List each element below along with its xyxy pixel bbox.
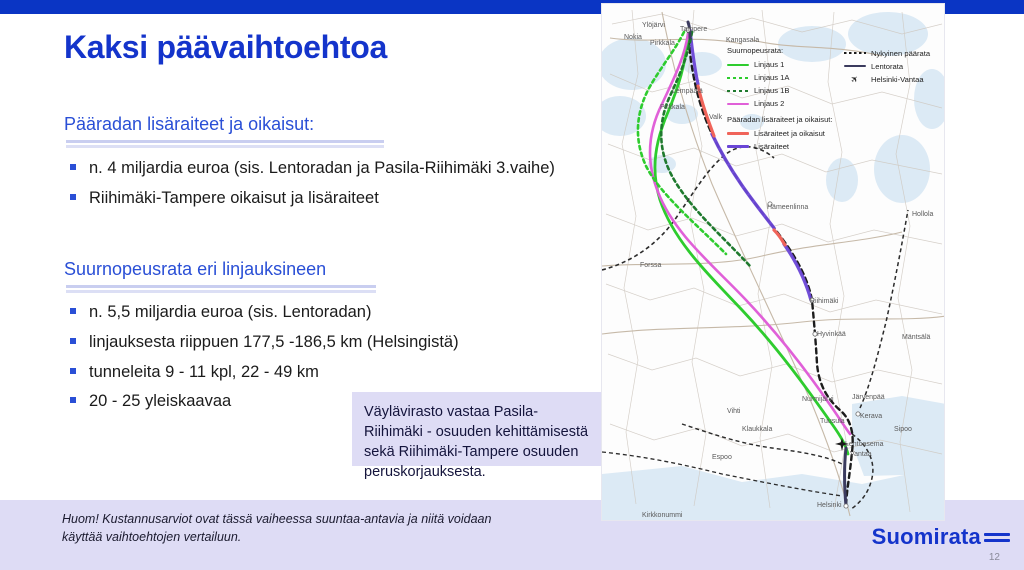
line-swatch-dashed (844, 49, 866, 58)
list-item: Riihimäki-Tampere oikaisut ja lisäraitee… (64, 188, 555, 210)
legend-item-label: Lisäraiteet ja oikaisut (754, 130, 825, 138)
list-item-text: linjauksesta riippuen 177,5 -186,5 km (H… (89, 333, 459, 351)
bullet-square-icon (70, 397, 76, 403)
map-place-label: Pirkkala (660, 104, 685, 111)
legend-item-label: Linjaus 2 (754, 100, 784, 108)
line-swatch-solid (727, 61, 749, 70)
footer-note: Huom! Kustannusarviot ovat tässä vaihees… (62, 510, 532, 546)
list-item: n. 5,5 miljardia euroa (sis. Lentoradan) (64, 302, 459, 324)
bullet-square-icon (70, 338, 76, 344)
legend-item[interactable]: Lisäraiteet ja oikaisut (727, 127, 837, 140)
map-place-label: Nokia (624, 34, 642, 41)
brand-logo: Suomirata (872, 524, 1010, 550)
map-place-label: Sipoo (894, 426, 912, 433)
map-place-label: Riihimäki (810, 298, 838, 305)
heading-rule-lower (66, 145, 384, 148)
line-swatch-solid (727, 100, 749, 109)
list-item-text: Riihimäki-Tampere oikaisut ja lisäraitee… (89, 189, 379, 207)
legend-item[interactable]: Linjaus 1A (727, 72, 837, 85)
legend-item-label: Helsinki-Vantaa (871, 76, 924, 84)
map-place-label: Kerava (860, 413, 882, 420)
map-place-label: Espoo (712, 454, 732, 461)
list-item-text: tunneleita 9 - 11 kpl, 22 - 49 km (89, 363, 319, 381)
legend-item-label: Lentorata (871, 63, 903, 71)
map-place-label: Järvenpää (852, 394, 885, 401)
legend-item[interactable]: Linjaus 1 (727, 59, 837, 72)
callout-box: Väylävirasto vastaa Pasila-Riihimäki - o… (352, 392, 604, 466)
heading-rule-upper (66, 140, 384, 143)
legend-item-label: Linjaus 1B (754, 87, 789, 95)
map-place-label: Mäntsälä (902, 334, 930, 341)
list-item: n. 4 miljardia euroa (sis. Lentoradan ja… (64, 158, 555, 180)
list-item: tunneleita 9 - 11 kpl, 22 - 49 km (64, 362, 459, 384)
legend-column-left: Suurnopeusrata: Linjaus 1Linjaus 1ALinja… (727, 47, 837, 153)
map-place-label: Lentoasema (845, 441, 884, 448)
bullet-square-icon (70, 308, 76, 314)
slide-root: Kaksi päävaihtoehtoa Pääradan lisäraitee… (0, 0, 1024, 570)
map-place-label: Forssa (640, 262, 661, 269)
map-place-label: Helsinki (817, 502, 842, 509)
legend-item-label: Lisäraiteet (754, 143, 789, 151)
legend-group-existing: Nykyinen päärataLentorata✈Helsinki-Vanta… (844, 47, 944, 86)
legend-item-label: Linjaus 1 (754, 61, 784, 69)
page-number: 12 (989, 552, 1000, 563)
legend-item[interactable]: Nykyinen päärata (844, 47, 944, 60)
legend-item[interactable]: Linjaus 2 (727, 98, 837, 111)
section-heading-2-label: Suurnopeusrata eri linjauksineen (64, 259, 326, 279)
legend-column-right: Nykyinen päärataLentorata✈Helsinki-Vanta… (844, 47, 944, 86)
legend-group-mainline: Lisäraiteet ja oikaisutLisäraiteet (727, 127, 837, 153)
bullet-list-1: n. 4 miljardia euroa (sis. Lentoradan ja… (64, 158, 555, 218)
map-place-label: Hyvinkää (817, 331, 846, 338)
map-place-label: Pirkkala (650, 40, 675, 47)
list-item-text: n. 5,5 miljardia euroa (sis. Lentoradan) (89, 303, 371, 321)
map-place-label: Nurmijärvi (802, 396, 834, 403)
map-place-label: Kirkkonummi (642, 512, 682, 519)
brand-rail-icon (984, 530, 1010, 545)
bullet-square-icon (70, 194, 76, 200)
line-swatch-dotted (727, 74, 749, 83)
legend-group-speedrail: Linjaus 1Linjaus 1ALinjaus 1BLinjaus 2 (727, 59, 837, 111)
legend-title-mainline: Pääradan lisäraiteet ja oikaisut: (727, 116, 837, 124)
legend-item[interactable]: Lisäraiteet (727, 140, 837, 153)
line-swatch-solid (727, 129, 749, 138)
map-place-label: Ylöjärvi (642, 22, 665, 29)
map-place-label: Hämeenlinna (767, 204, 808, 211)
legend-item[interactable]: Linjaus 1B (727, 85, 837, 98)
map-place-label: Vihti (727, 408, 741, 415)
line-swatch-dotted (727, 87, 749, 96)
map-place-label: Klaukkala (742, 426, 772, 433)
list-item-text: 20 - 25 yleiskaavaa (89, 392, 231, 410)
map-place-label: Lempäälä (672, 88, 703, 95)
plane-icon: ✈ (844, 75, 866, 84)
line-swatch-solid (844, 62, 866, 71)
list-item-text: n. 4 miljardia euroa (sis. Lentoradan ja… (89, 159, 555, 177)
list-item: linjauksesta riippuen 177,5 -186,5 km (H… (64, 332, 459, 354)
legend-item[interactable]: ✈Helsinki-Vantaa (844, 73, 944, 86)
legend-item-label: Nykyinen päärata (871, 50, 930, 58)
map-place-label: Tuusula (820, 418, 845, 425)
map-place-label: Hollola (912, 211, 933, 218)
heading-rule-lower (66, 290, 376, 293)
section-heading-2: Suurnopeusrata eri linjauksineen (64, 259, 326, 280)
page-title: Kaksi päävaihtoehtoa (64, 29, 387, 66)
map-place-label: Vantaa (850, 451, 872, 458)
section-heading-1-label: Pääradan lisäraiteet ja oikaisut: (64, 114, 314, 134)
map-place-label: Tampere (680, 26, 707, 33)
map-place-label: Kangasala (726, 37, 759, 44)
line-swatch-solid (727, 142, 749, 151)
legend-title-speedrail: Suurnopeusrata: (727, 47, 837, 55)
bullet-square-icon (70, 164, 76, 170)
heading-rule-upper (66, 285, 376, 288)
section-heading-1: Pääradan lisäraiteet ja oikaisut: (64, 114, 314, 135)
legend-item-label: Linjaus 1A (754, 74, 789, 82)
bullet-square-icon (70, 368, 76, 374)
brand-name: Suomirata (872, 524, 981, 550)
map-place-label: Valk (709, 114, 722, 121)
callout-text: Väylävirasto vastaa Pasila-Riihimäki - o… (364, 404, 588, 480)
